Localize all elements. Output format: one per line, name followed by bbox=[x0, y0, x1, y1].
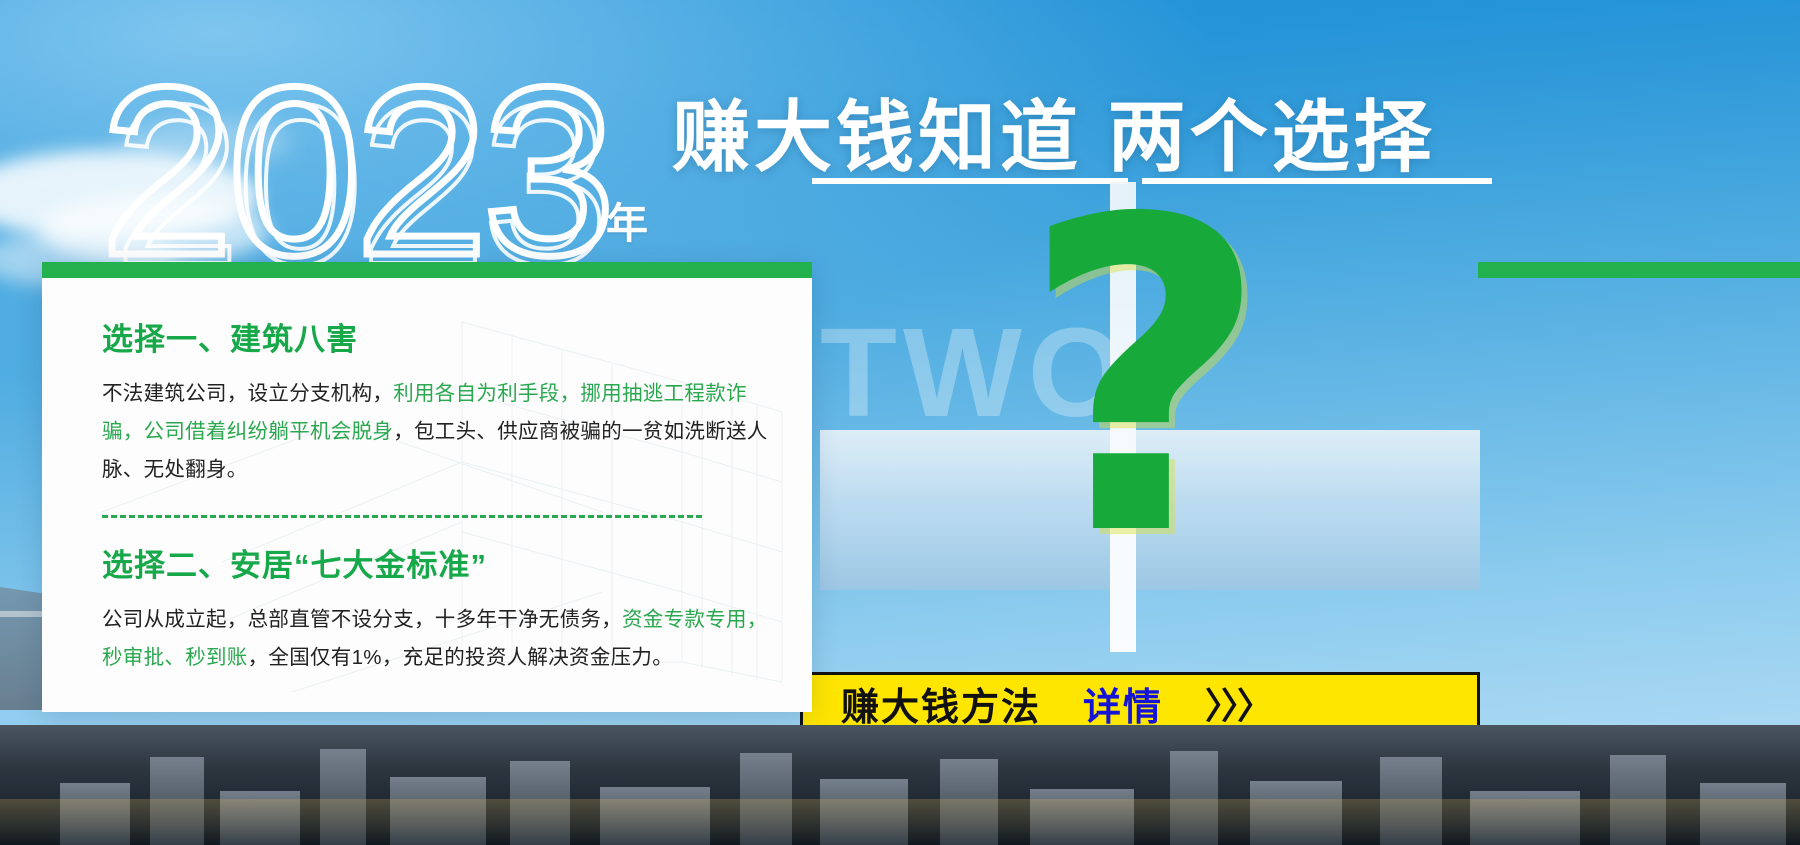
right-accent-bar bbox=[1478, 262, 1800, 278]
section-divider bbox=[102, 515, 702, 518]
body-span-plain: ，全国仅有1%，充足的投资人解决资金压力。 bbox=[248, 646, 673, 669]
section-title-1: 选择一、建筑八害 bbox=[102, 314, 772, 359]
poster-canvas: 2023 2023 年 赚大钱知道 两个选择 TWO CHOICES ? 赚大钱… bbox=[0, 0, 1800, 845]
cta-main-label: 赚大钱方法 bbox=[841, 676, 1041, 731]
bottom-city-strip bbox=[0, 725, 1800, 845]
body-span-plain: 公司从成立起，总部直管不设分支，十多年干净无债务， bbox=[102, 608, 622, 631]
chevron-right-icon: 〉〉〉 bbox=[1205, 677, 1271, 729]
svg-text:2023: 2023 bbox=[114, 58, 605, 288]
section-body-2: 公司从成立起，总部直管不设分支，十多年干净无债务，资金专款专用，秒审批、秒到账，… bbox=[102, 601, 772, 677]
content-card: 选择一、建筑八害 不法建筑公司，设立分支机构，利用各自为利手段，挪用抽逃工程款诈… bbox=[42, 262, 812, 712]
year-number: 2023 2023 bbox=[100, 58, 720, 288]
body-span-plain: 不法建筑公司，设立分支机构， bbox=[102, 382, 393, 405]
section-title-2: 选择二、安居“七大金标准” bbox=[102, 540, 772, 585]
section-body-1: 不法建筑公司，设立分支机构，利用各自为利手段，挪用抽逃工程款诈骗，公司借着纠纷躺… bbox=[102, 375, 772, 489]
question-mark-icon: ? bbox=[1020, 200, 1269, 561]
cta-detail-link[interactable]: 详情 bbox=[1083, 676, 1163, 731]
year-suffix-label: 年 bbox=[606, 190, 649, 251]
